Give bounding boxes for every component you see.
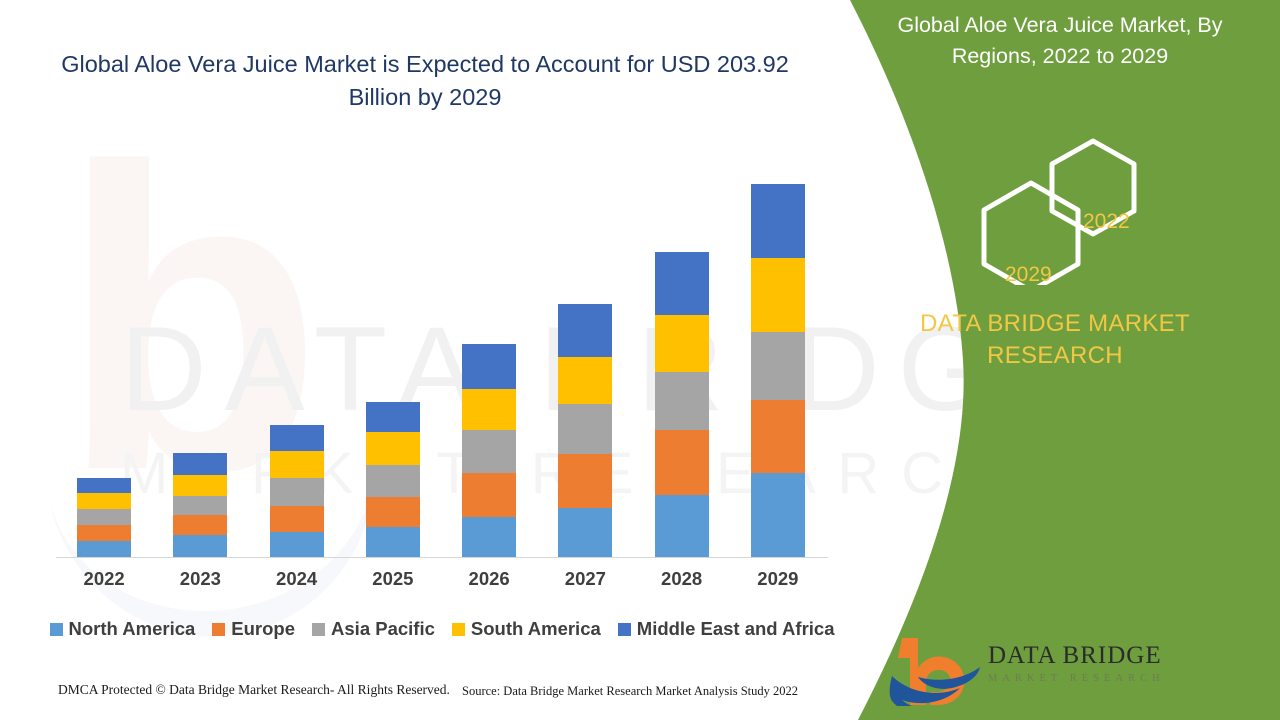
bar-segment — [366, 465, 420, 497]
legend-label: North America — [69, 618, 196, 640]
stacked-bar[interactable] — [270, 425, 324, 557]
bar-group — [56, 150, 826, 557]
bar-segment — [77, 541, 131, 557]
x-axis-label-2023: 2023 — [152, 568, 248, 590]
x-axis-labels: 20222023202420252026202720282029 — [56, 562, 826, 596]
bar-column-2024 — [249, 150, 345, 557]
bar-segment — [558, 508, 612, 557]
bar-segment — [655, 372, 709, 430]
footer-copyright: DMCA Protected © Data Bridge Market Rese… — [58, 682, 450, 698]
legend-item-asia-pacific[interactable]: Asia Pacific — [312, 618, 435, 640]
bar-segment — [366, 497, 420, 527]
bar-segment — [173, 475, 227, 496]
logo-name-secondary: MARKET RESEARCH — [988, 673, 1165, 684]
bar-segment — [366, 402, 420, 432]
bar-segment — [558, 454, 612, 508]
footer-source: Source: Data Bridge Market Research Mark… — [462, 684, 798, 699]
chart-legend: North AmericaEuropeAsia PacificSouth Ame… — [42, 616, 842, 642]
bar-segment — [751, 258, 805, 332]
bar-segment — [751, 400, 805, 473]
bar-segment — [270, 506, 324, 532]
bar-segment — [462, 344, 516, 389]
x-axis-label-2025: 2025 — [345, 568, 441, 590]
b-swoosh-icon — [888, 632, 984, 706]
legend-swatch-icon — [50, 623, 63, 636]
x-axis-label-2026: 2026 — [441, 568, 537, 590]
bar-segment — [366, 527, 420, 557]
bar-column-2029 — [730, 150, 826, 557]
data-bridge-logo: DATA BRIDGE MARKET RESEARCH — [888, 632, 1118, 710]
bar-segment — [270, 478, 324, 506]
bar-segment — [173, 515, 227, 535]
bar-column-2028 — [634, 150, 730, 557]
bar-segment — [270, 451, 324, 478]
infographic-canvas: b DATA BRIDGE MARKET RESEARCH Global Alo… — [0, 0, 1280, 720]
legend-item-north-america[interactable]: North America — [50, 618, 196, 640]
bar-segment — [558, 304, 612, 357]
bar-segment — [751, 184, 805, 258]
chart-title: Global Aloe Vera Juice Market is Expecte… — [55, 48, 795, 114]
bar-segment — [77, 509, 131, 525]
legend-item-europe[interactable]: Europe — [212, 618, 295, 640]
legend-swatch-icon — [212, 623, 225, 636]
panel-brand-name: DATA BRIDGE MARKET RESEARCH — [880, 308, 1230, 372]
bar-column-2026 — [441, 150, 537, 557]
bar-segment — [751, 473, 805, 557]
bar-segment — [462, 430, 516, 473]
hexagon-label-2022: 2022 — [1083, 210, 1130, 234]
bar-segment — [558, 404, 612, 454]
bar-segment — [173, 496, 227, 515]
hexagon-label-2029: 2029 — [1005, 263, 1052, 287]
legend-item-south-america[interactable]: South America — [452, 618, 601, 640]
stacked-bar-chart: 20222023202420252026202720282029 — [42, 150, 832, 562]
bar-segment — [462, 389, 516, 430]
bar-column-2027 — [537, 150, 633, 557]
bar-segment — [751, 332, 805, 400]
x-axis-label-2024: 2024 — [249, 568, 345, 590]
bar-segment — [77, 493, 131, 509]
legend-label: South America — [471, 618, 601, 640]
stacked-bar[interactable] — [558, 304, 612, 557]
legend-label: Middle East and Africa — [637, 618, 835, 640]
bar-segment — [77, 525, 131, 541]
stacked-bar[interactable] — [77, 478, 131, 557]
legend-item-middle-east-and-africa[interactable]: Middle East and Africa — [618, 618, 835, 640]
x-axis-line — [56, 557, 828, 558]
stacked-bar[interactable] — [462, 344, 516, 557]
stacked-bar[interactable] — [173, 453, 227, 557]
bar-column-2025 — [345, 150, 441, 557]
logo-name-primary: DATA BRIDGE — [988, 642, 1165, 670]
stacked-bar[interactable] — [366, 402, 420, 557]
bar-column-2022 — [56, 150, 152, 557]
legend-label: Europe — [231, 618, 295, 640]
bar-segment — [655, 430, 709, 495]
x-axis-label-2027: 2027 — [537, 568, 633, 590]
bar-segment — [655, 252, 709, 315]
panel-title: Global Aloe Vera Juice Market, By Region… — [860, 10, 1260, 72]
stacked-bar[interactable] — [655, 252, 709, 557]
logo-wordmark: DATA BRIDGE MARKET RESEARCH — [988, 642, 1165, 684]
green-side-panel: Global Aloe Vera Juice Market, By Region… — [820, 0, 1280, 720]
legend-swatch-icon — [618, 623, 631, 636]
bar-segment — [558, 357, 612, 404]
legend-swatch-icon — [452, 623, 465, 636]
legend-label: Asia Pacific — [331, 618, 435, 640]
bar-segment — [270, 425, 324, 451]
bar-column-2023 — [152, 150, 248, 557]
hexagon-shapes — [965, 135, 1175, 285]
legend-swatch-icon — [312, 623, 325, 636]
bar-segment — [655, 495, 709, 557]
hexagon-group: 2022 2029 — [965, 135, 1175, 285]
bar-segment — [462, 473, 516, 517]
x-axis-label-2028: 2028 — [634, 568, 730, 590]
x-axis-label-2029: 2029 — [730, 568, 826, 590]
x-axis-label-2022: 2022 — [56, 568, 152, 590]
bar-segment — [173, 535, 227, 557]
bar-segment — [77, 478, 131, 493]
bar-segment — [462, 517, 516, 557]
bar-segment — [270, 532, 324, 557]
stacked-bar[interactable] — [751, 184, 805, 557]
bar-segment — [173, 453, 227, 475]
bar-segment — [366, 432, 420, 465]
bar-segment — [655, 315, 709, 372]
